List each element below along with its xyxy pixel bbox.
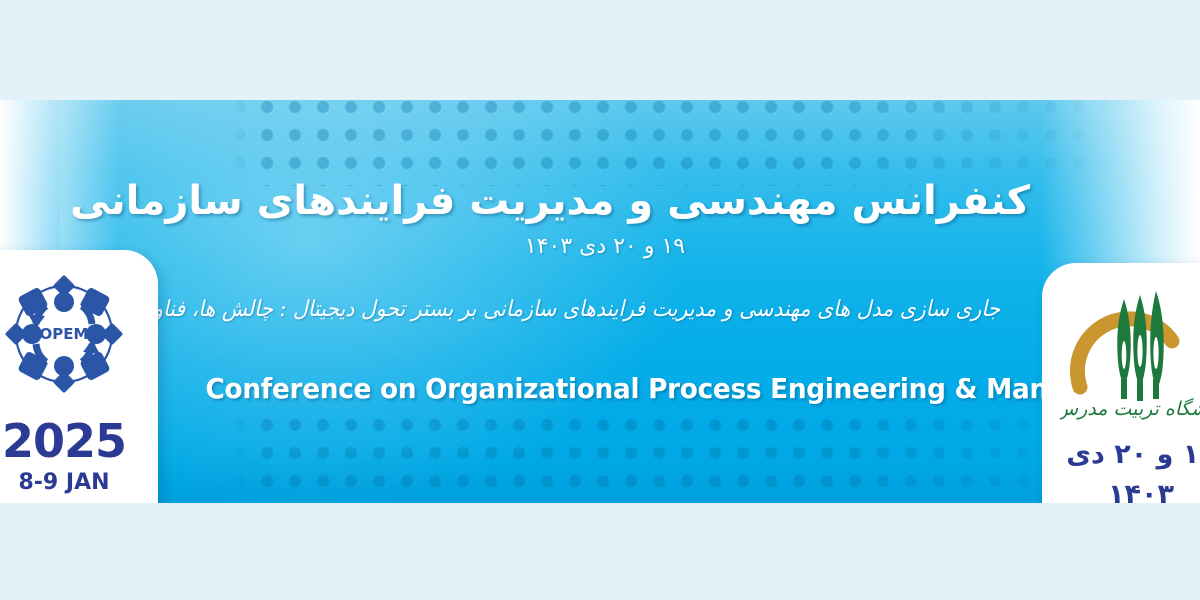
conference-days-gregorian: 8-9 JAN (0, 472, 128, 494)
opem-logo: OPEM (0, 270, 128, 398)
conference-banner: کنفرانس مهندسی و مدیریت فرایندهای سازمان… (0, 100, 1200, 503)
university-logo-card: دانشگاه تربیت مدرس ۱۹ و ۲۰ دی ۱۴۰۳ (1042, 263, 1200, 503)
opem-logo-wordmark: OPEM (40, 325, 89, 343)
university-card-date-line-2: ۱۴۰۳ (1042, 481, 1200, 503)
opem-logo-card: OPEM 2025 8-9 JAN (0, 250, 158, 503)
university-card-date-line-1: ۱۹ و ۲۰ دی (1042, 441, 1200, 468)
conference-year: 2025 (0, 418, 128, 464)
conference-theme-farsi: جاری سازی مدل های مهندسی و مدیریت فرایند… (210, 296, 1001, 324)
university-logo-caption: دانشگاه تربیت مدرس (1060, 397, 1200, 420)
page-root: کنفرانس مهندسی و مدیریت فرایندهای سازمان… (0, 0, 1200, 600)
tarbiat-modares-university-logo: دانشگاه تربیت مدرس (1060, 279, 1200, 421)
banner-center-text: کنفرانس مهندسی و مدیریت فرایندهای سازمان… (180, 100, 1030, 503)
conference-title-farsi: کنفرانس مهندسی و مدیریت فرایندهای سازمان… (180, 178, 1030, 225)
conference-title-english: Conference on Organizational Process Eng… (206, 372, 1005, 406)
conference-date-farsi: ۱۹ و ۲۰ دی ۱۴۰۳ (180, 234, 1030, 260)
